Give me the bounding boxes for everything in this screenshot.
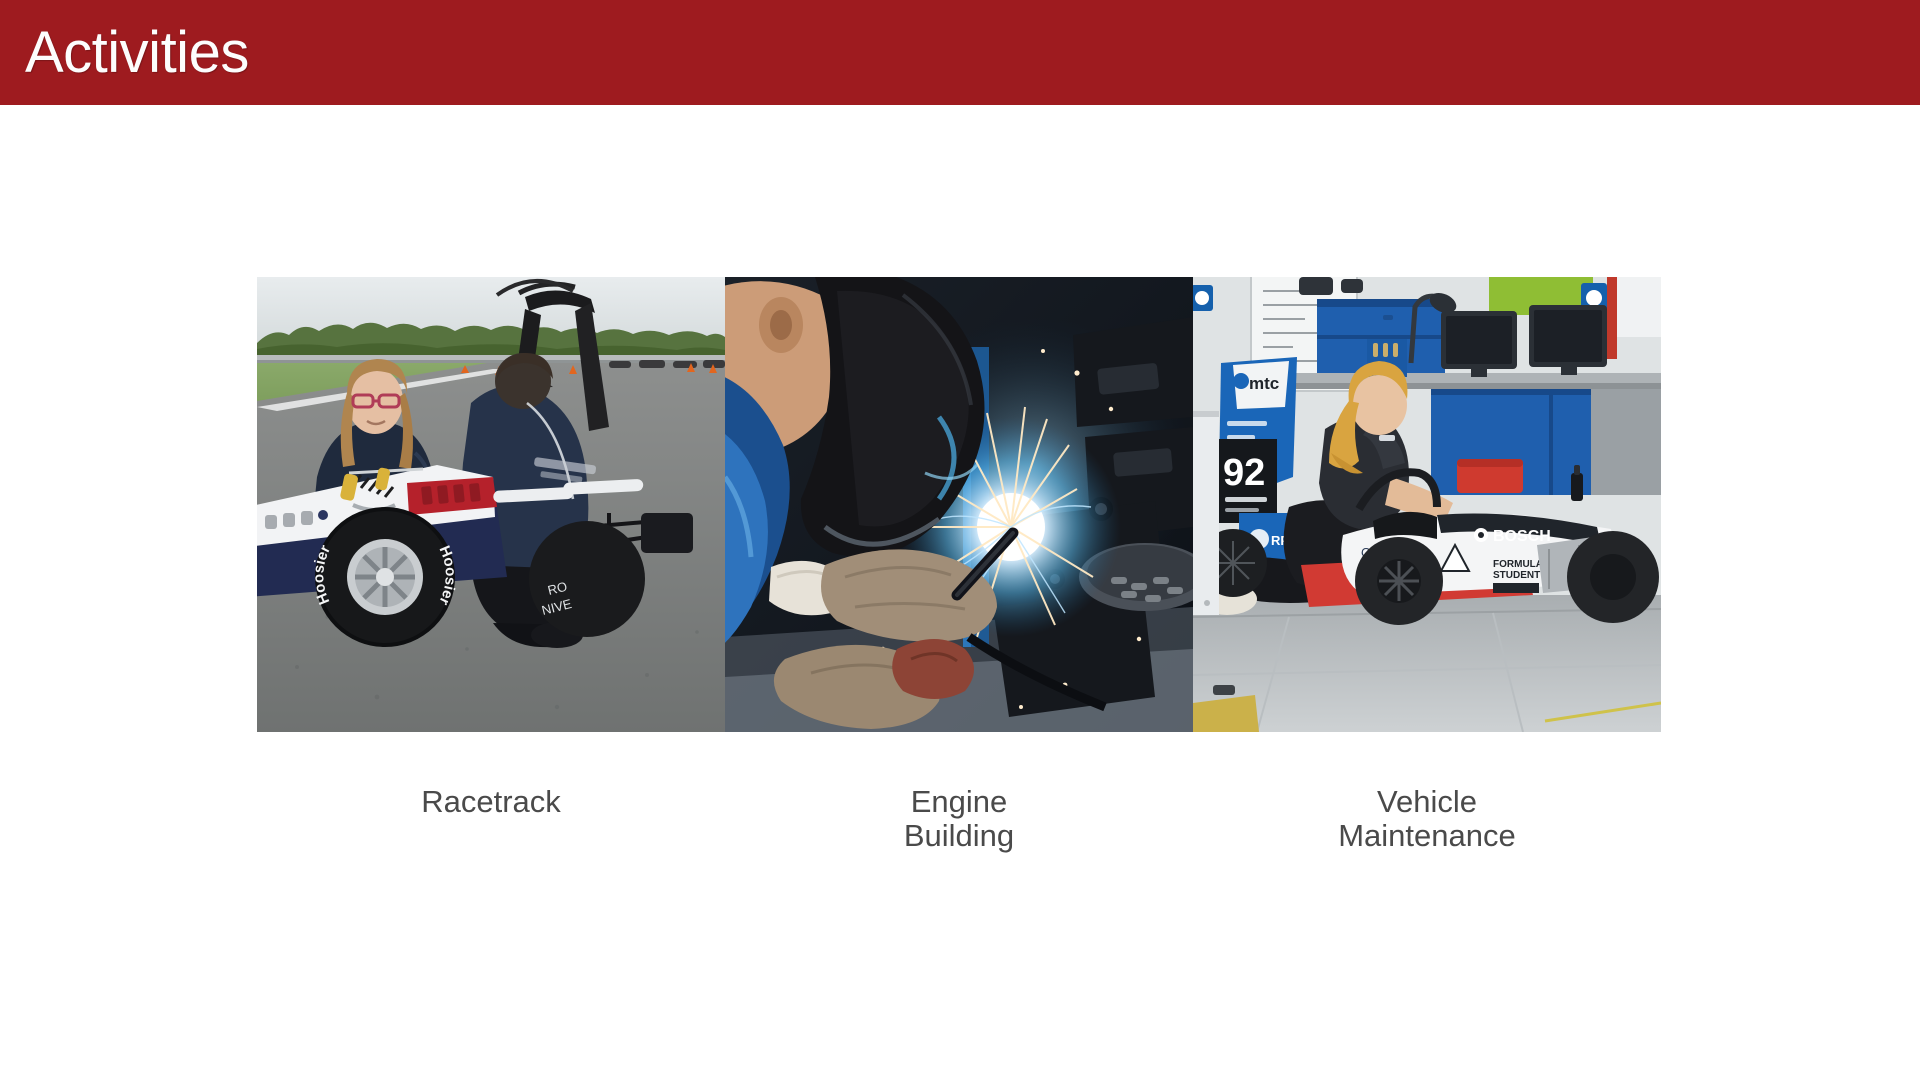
activity-caption: Engine Building	[904, 785, 1014, 853]
svg-text:92: 92	[1223, 452, 1265, 494]
activity-caption: Racetrack	[421, 785, 561, 819]
svg-text:BOSCH: BOSCH	[1493, 528, 1551, 545]
svg-text:FORMULA: FORMULA	[1493, 559, 1543, 570]
engine-building-photo	[725, 277, 1193, 732]
vehicle-maintenance-photo: mtc 92 RPS	[1193, 277, 1661, 732]
racetrack-photo: Hoosier Hoosier RO NIVE	[257, 277, 725, 732]
activities-gallery: Hoosier Hoosier RO NIVE Racetrack	[257, 277, 1661, 853]
page-header-banner: Activities	[0, 0, 1920, 105]
svg-text:mtc: mtc	[1249, 374, 1279, 393]
svg-text:STUDENT: STUDENT	[1493, 570, 1540, 581]
activity-card-racetrack[interactable]: Hoosier Hoosier RO NIVE Racetrack	[257, 277, 725, 853]
page-title: Activities	[25, 24, 249, 82]
activity-card-vehicle-maintenance[interactable]: mtc 92 RPS	[1193, 277, 1661, 853]
activity-card-engine-building[interactable]: Engine Building	[725, 277, 1193, 853]
activity-caption: Vehicle Maintenance	[1338, 785, 1516, 853]
